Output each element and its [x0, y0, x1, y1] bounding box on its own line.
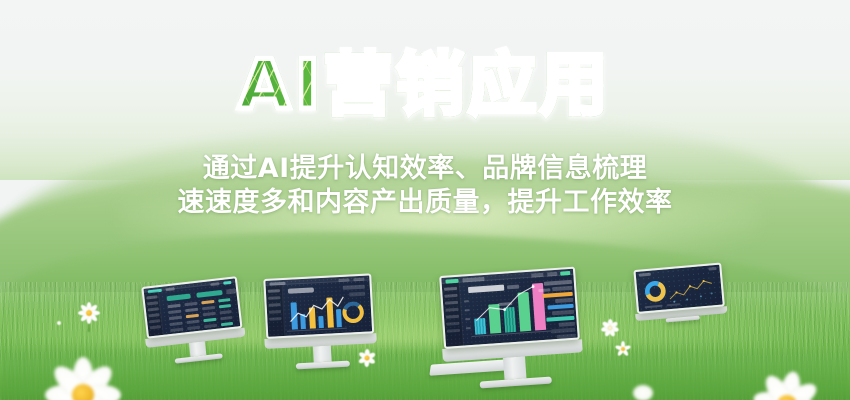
sidebar-item [445, 301, 458, 305]
grass-foreground-blur [0, 356, 850, 400]
topbar-menu-chip [462, 277, 484, 282]
kpi-pill [349, 292, 365, 297]
sidebar-item [149, 319, 160, 323]
sidebar-item [146, 296, 157, 300]
topbar-user-chip [353, 278, 364, 282]
trend-line-chart [288, 293, 346, 330]
daisy-center [357, 348, 377, 368]
daisy-left-bud [54, 318, 64, 328]
analytics-table-screen[interactable] [141, 276, 242, 339]
daisy-right-large [748, 366, 826, 400]
flower-core [57, 321, 61, 325]
daisy-left-small [76, 300, 102, 326]
sidebar-item [446, 322, 459, 326]
sidebar-item [148, 313, 159, 317]
scatter-trend-chart [666, 273, 718, 307]
sidebar-item [269, 303, 281, 307]
topbar-user-chip [560, 271, 570, 275]
daisy-bottom-bud [628, 378, 658, 400]
sidebar-item [444, 287, 457, 291]
sidebar-item [148, 308, 159, 312]
banner-root: AI营销应用 通过AI提升认知效率、品牌信息梳理 速速度多和内容产出质量，提升工… [0, 0, 850, 400]
flower-core [72, 384, 94, 400]
scatter-donut-screen[interactable] [633, 262, 725, 314]
growth-trend-line [470, 280, 549, 335]
sidebar-item [150, 325, 161, 329]
flower-core [86, 310, 92, 316]
sidebar-item [445, 308, 458, 312]
sidebar-item [444, 294, 457, 298]
monitor-neck [503, 356, 526, 379]
donut-chart [341, 300, 366, 325]
analytics-table-monitor[interactable] [141, 276, 247, 367]
scatter-donut-tablet[interactable] [633, 262, 727, 325]
page-title: AI营销应用 [238, 52, 612, 120]
monitor-neck [313, 346, 332, 363]
headline-container: AI营销应用 [0, 52, 850, 120]
topbar-action-chip [531, 273, 543, 277]
sidebar-item [268, 296, 280, 300]
sidebar-item [447, 329, 460, 333]
main-growth-screen[interactable] [439, 267, 580, 349]
subtitle-block: 通过AI提升认知效率、品牌信息梳理 速速度多和内容产出质量，提升工作效率 [0, 152, 850, 220]
subtitle-line-2: 速速度多和内容产出质量，提升工作效率 [0, 186, 850, 220]
flower-core [608, 326, 613, 331]
flower-core [365, 356, 370, 361]
sidebar-item [269, 317, 281, 321]
bar-line-screen[interactable] [263, 273, 374, 339]
subtitle-line-1: 通过AI提升认知效率、品牌信息梳理 [0, 152, 850, 186]
topbar-action-chip [338, 278, 349, 282]
screen-sidebar [266, 285, 285, 337]
flower-core [633, 385, 653, 400]
sidebar-item [269, 310, 281, 314]
daisy-right-small [600, 318, 620, 338]
daisy-tablet-side [614, 340, 631, 357]
donut-chart [642, 278, 668, 304]
daisy-left-large [40, 352, 126, 400]
sidebar-item [268, 289, 280, 293]
topbar-action-chip [547, 272, 557, 276]
main-growth-monitor[interactable] [439, 266, 585, 390]
sidebar-item [147, 302, 158, 306]
flower-core [621, 347, 625, 351]
sidebar-item [446, 315, 459, 319]
